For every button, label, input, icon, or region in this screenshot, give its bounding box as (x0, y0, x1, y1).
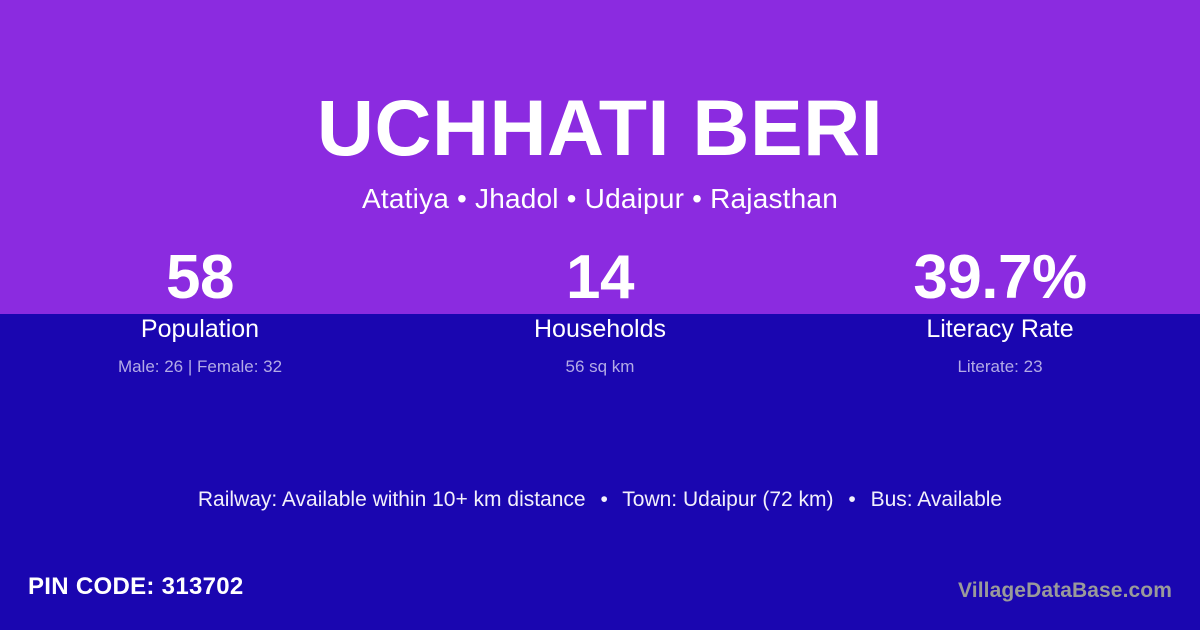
infrastructure-row: Railway: Available within 10+ km distanc… (0, 486, 1200, 514)
stat-label: Population (0, 314, 400, 344)
bullet-separator-icon: • (839, 486, 864, 514)
infrastructure-town: Town: Udaipur (72 km) (622, 488, 833, 511)
stat-literacy-rate: 39.7% Literacy Rate Literate: 23 (800, 246, 1200, 378)
pin-code-label: PIN CODE: 313702 (28, 572, 244, 602)
stat-sublabel: 56 sq km (400, 356, 800, 378)
stat-label: Literacy Rate (800, 314, 1200, 344)
bullet-separator-icon: • (591, 486, 616, 514)
card-footer: PIN CODE: 313702 VillageDataBase.com (0, 558, 1200, 630)
stats-row: 58 Population Male: 26 | Female: 32 14 H… (0, 246, 1200, 378)
stat-population: 58 Population Male: 26 | Female: 32 (0, 246, 400, 378)
breadcrumb: Atatiya • Jhadol • Udaipur • Rajasthan (0, 183, 1200, 215)
stat-label: Households (400, 314, 800, 344)
page-title: UCHHATI BERI (0, 88, 1200, 167)
stat-households: 14 Households 56 sq km (400, 246, 800, 378)
village-info-card: UCHHATI BERI Atatiya • Jhadol • Udaipur … (0, 0, 1200, 630)
stat-sublabel: Literate: 23 (800, 356, 1200, 378)
stat-sublabel: Male: 26 | Female: 32 (0, 356, 400, 378)
stat-value: 58 (0, 246, 400, 312)
site-watermark: VillageDataBase.com (958, 578, 1172, 604)
infrastructure-railway: Railway: Available within 10+ km distanc… (198, 488, 586, 511)
stat-value: 14 (400, 246, 800, 312)
stat-value: 39.7% (800, 246, 1200, 312)
infrastructure-bus: Bus: Available (871, 488, 1003, 511)
